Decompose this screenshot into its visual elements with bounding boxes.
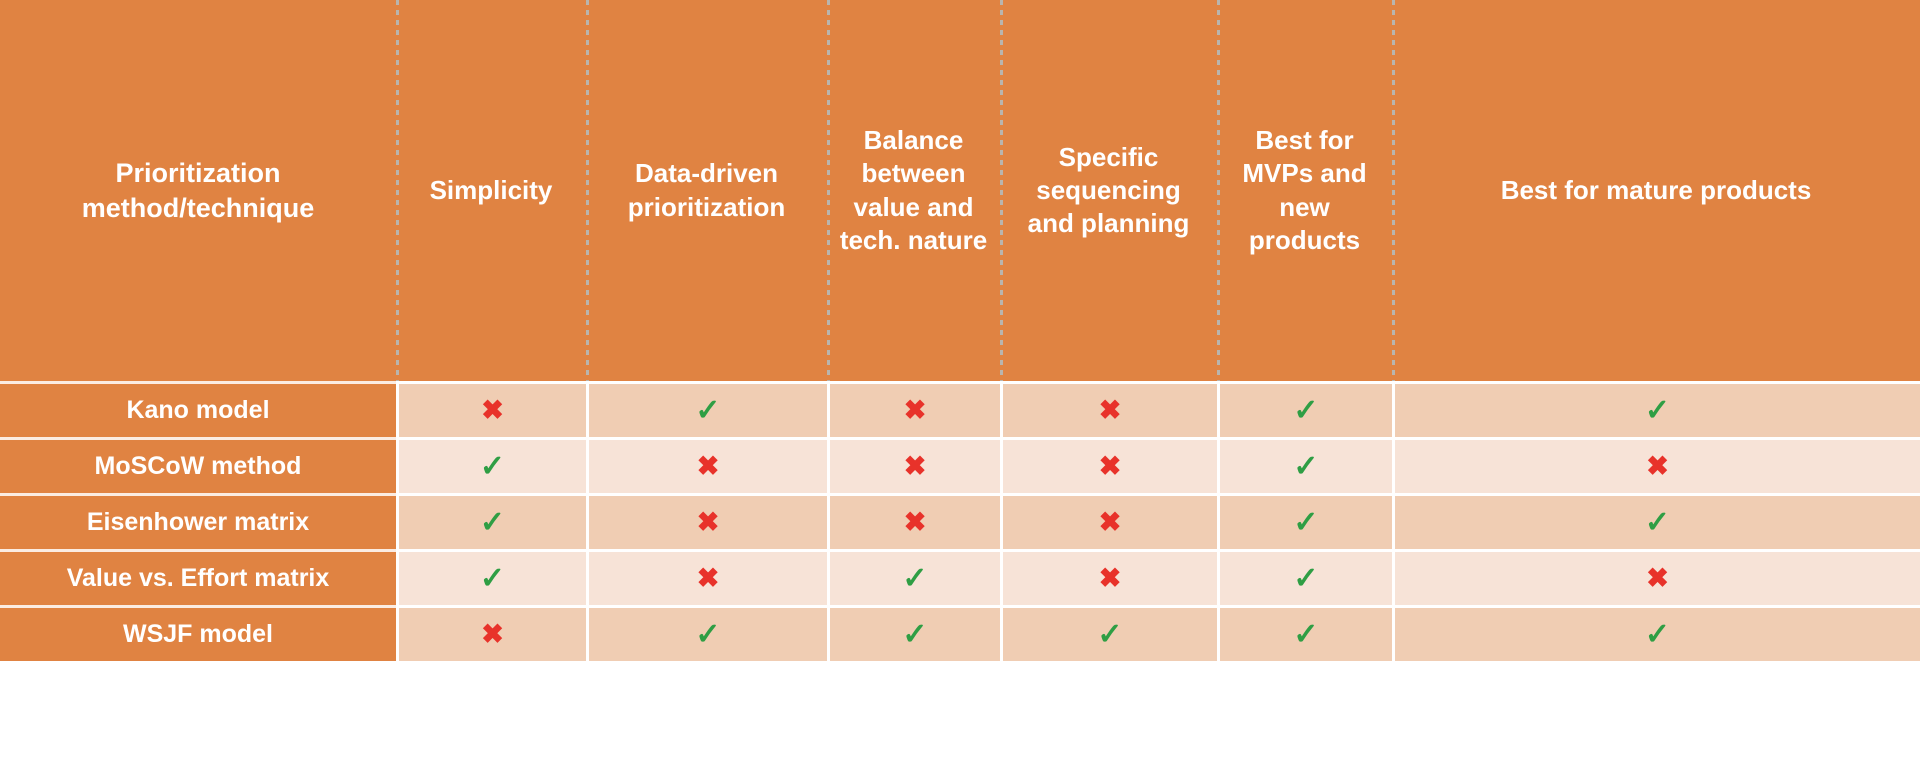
check-icon: ✓ — [695, 396, 720, 426]
table-row: Eisenhower matrix✓✖✖✖✓✓ — [0, 493, 1920, 549]
table-row: WSJF model✖✓✓✓✓✓ — [0, 605, 1920, 661]
cell-kano-model-data-driven-prioritization: ✓ — [586, 381, 827, 437]
row-label-eisenhower-matrix: Eisenhower matrix — [0, 493, 396, 549]
cell-eisenhower-matrix-sequencing-planning: ✖ — [1000, 493, 1217, 549]
column-header-mvps-label: Best for MVPs and new products — [1227, 124, 1382, 257]
column-header-sequencing-planning: Specific sequencing and planning — [1000, 0, 1217, 381]
cross-icon: ✖ — [1099, 509, 1122, 536]
cell-kano-model-simplicity: ✖ — [396, 381, 586, 437]
cross-icon: ✖ — [1099, 453, 1122, 480]
cell-value-vs-effort-matrix-sequencing-planning: ✖ — [1000, 549, 1217, 605]
cell-value-vs-effort-matrix-best-for-mature: ✖ — [1392, 549, 1920, 605]
cell-wsjf-model-best-for-mature: ✓ — [1392, 605, 1920, 661]
cell-eisenhower-matrix-simplicity: ✓ — [396, 493, 586, 549]
column-header-data-driven-prioritization: Data-driven prioritization — [586, 0, 827, 381]
cell-value-vs-effort-matrix-simplicity: ✓ — [396, 549, 586, 605]
cross-icon: ✖ — [697, 453, 720, 480]
cell-moscow-method-best-for-mature: ✖ — [1392, 437, 1920, 493]
cell-moscow-method-data-driven-prioritization: ✖ — [586, 437, 827, 493]
cell-eisenhower-matrix-best-for-mature: ✓ — [1392, 493, 1920, 549]
check-icon: ✓ — [695, 620, 720, 650]
check-icon: ✓ — [1293, 564, 1318, 594]
cross-icon: ✖ — [1099, 397, 1122, 424]
check-icon: ✓ — [480, 508, 505, 538]
cell-wsjf-model-best-for-mvps: ✓ — [1217, 605, 1392, 661]
prioritization-comparison-table: Prioritization method/technique Simplici… — [0, 0, 1920, 770]
check-icon: ✓ — [1097, 620, 1122, 650]
check-icon: ✓ — [1645, 396, 1670, 426]
column-header-method: Prioritization method/technique — [0, 0, 396, 381]
column-header-mature-label: Best for mature products — [1501, 174, 1812, 207]
table-body: Kano model✖✓✖✖✓✓MoSCoW method✓✖✖✖✓✖Eisen… — [0, 381, 1920, 770]
table-header-row: Prioritization method/technique Simplici… — [0, 0, 1920, 381]
check-icon: ✓ — [1645, 508, 1670, 538]
cell-moscow-method-sequencing-planning: ✖ — [1000, 437, 1217, 493]
row-label-moscow-method: MoSCoW method — [0, 437, 396, 493]
table-row: MoSCoW method✓✖✖✖✓✖ — [0, 437, 1920, 493]
check-icon: ✓ — [1645, 620, 1670, 650]
cell-value-vs-effort-matrix-best-for-mvps: ✓ — [1217, 549, 1392, 605]
cell-kano-model-best-for-mature: ✓ — [1392, 381, 1920, 437]
cross-icon: ✖ — [481, 621, 504, 648]
column-header-simplicity: Simplicity — [396, 0, 586, 381]
cell-kano-model-balance-value-tech: ✖ — [827, 381, 1000, 437]
cell-moscow-method-simplicity: ✓ — [396, 437, 586, 493]
cross-icon: ✖ — [904, 453, 927, 480]
check-icon: ✓ — [902, 620, 927, 650]
row-label-kano-model: Kano model — [0, 381, 396, 437]
cross-icon: ✖ — [1646, 453, 1669, 480]
cell-wsjf-model-sequencing-planning: ✓ — [1000, 605, 1217, 661]
cell-wsjf-model-data-driven-prioritization: ✓ — [586, 605, 827, 661]
column-header-best-for-mvps: Best for MVPs and new products — [1217, 0, 1392, 381]
cross-icon: ✖ — [1646, 565, 1669, 592]
check-icon: ✓ — [1293, 452, 1318, 482]
column-header-method-label: Prioritization method/technique — [10, 156, 386, 225]
column-header-balance-label: Balance between value and tech. nature — [837, 124, 990, 257]
column-header-simplicity-label: Simplicity — [430, 174, 553, 207]
row-label-value-vs-effort-matrix: Value vs. Effort matrix — [0, 549, 396, 605]
cell-eisenhower-matrix-data-driven-prioritization: ✖ — [586, 493, 827, 549]
cross-icon: ✖ — [904, 509, 927, 536]
cross-icon: ✖ — [697, 565, 720, 592]
table-row: Value vs. Effort matrix✓✖✓✖✓✖ — [0, 549, 1920, 605]
cell-eisenhower-matrix-balance-value-tech: ✖ — [827, 493, 1000, 549]
cross-icon: ✖ — [697, 509, 720, 536]
check-icon: ✓ — [1293, 396, 1318, 426]
check-icon: ✓ — [902, 564, 927, 594]
cell-wsjf-model-simplicity: ✖ — [396, 605, 586, 661]
cell-value-vs-effort-matrix-data-driven-prioritization: ✖ — [586, 549, 827, 605]
cell-kano-model-best-for-mvps: ✓ — [1217, 381, 1392, 437]
cross-icon: ✖ — [904, 397, 927, 424]
cell-wsjf-model-balance-value-tech: ✓ — [827, 605, 1000, 661]
table-row: Kano model✖✓✖✖✓✓ — [0, 381, 1920, 437]
cell-kano-model-sequencing-planning: ✖ — [1000, 381, 1217, 437]
column-header-best-for-mature: Best for mature products — [1392, 0, 1920, 381]
cell-moscow-method-best-for-mvps: ✓ — [1217, 437, 1392, 493]
check-icon: ✓ — [480, 452, 505, 482]
column-header-data-driven-label: Data-driven prioritization — [596, 157, 817, 224]
row-label-wsjf-model: WSJF model — [0, 605, 396, 661]
cell-moscow-method-balance-value-tech: ✖ — [827, 437, 1000, 493]
column-header-balance-value-tech: Balance between value and tech. nature — [827, 0, 1000, 381]
cell-value-vs-effort-matrix-balance-value-tech: ✓ — [827, 549, 1000, 605]
check-icon: ✓ — [1293, 620, 1318, 650]
cross-icon: ✖ — [481, 397, 504, 424]
check-icon: ✓ — [1293, 508, 1318, 538]
cross-icon: ✖ — [1099, 565, 1122, 592]
column-header-sequencing-label: Specific sequencing and planning — [1010, 141, 1207, 241]
cell-eisenhower-matrix-best-for-mvps: ✓ — [1217, 493, 1392, 549]
check-icon: ✓ — [480, 564, 505, 594]
